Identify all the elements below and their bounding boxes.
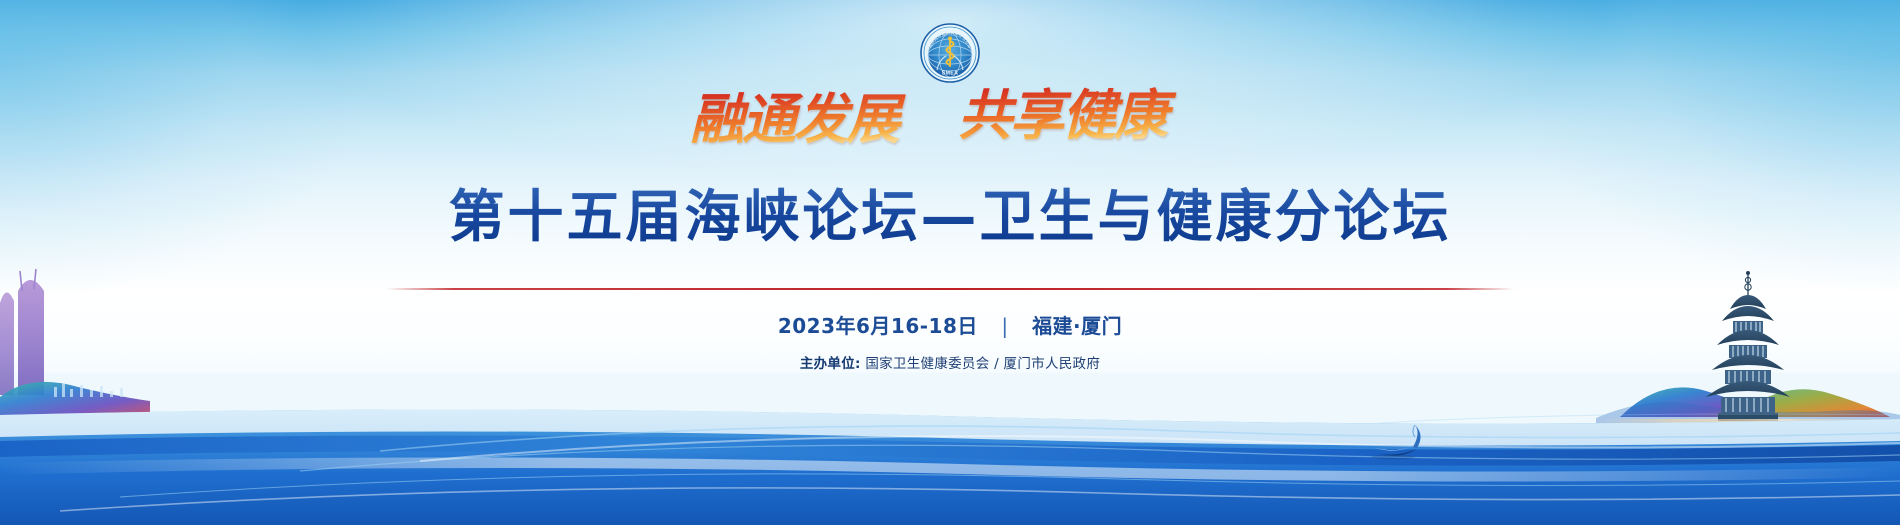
conference-banner: SMEA 海峡两岸医药卫生交流协会	[0, 0, 1900, 525]
slogan-part-1: 融通发展	[690, 88, 906, 151]
scenery	[0, 265, 1900, 525]
slogan-part-2: 共享健康	[958, 84, 1177, 147]
slogan: 融通发展 共享健康	[0, 76, 1900, 168]
association-logo-icon: SMEA 海峡两岸医药卫生交流协会	[919, 22, 981, 84]
page-title: 第十五届海峡论坛—卫生与健康分论坛	[0, 186, 1900, 250]
